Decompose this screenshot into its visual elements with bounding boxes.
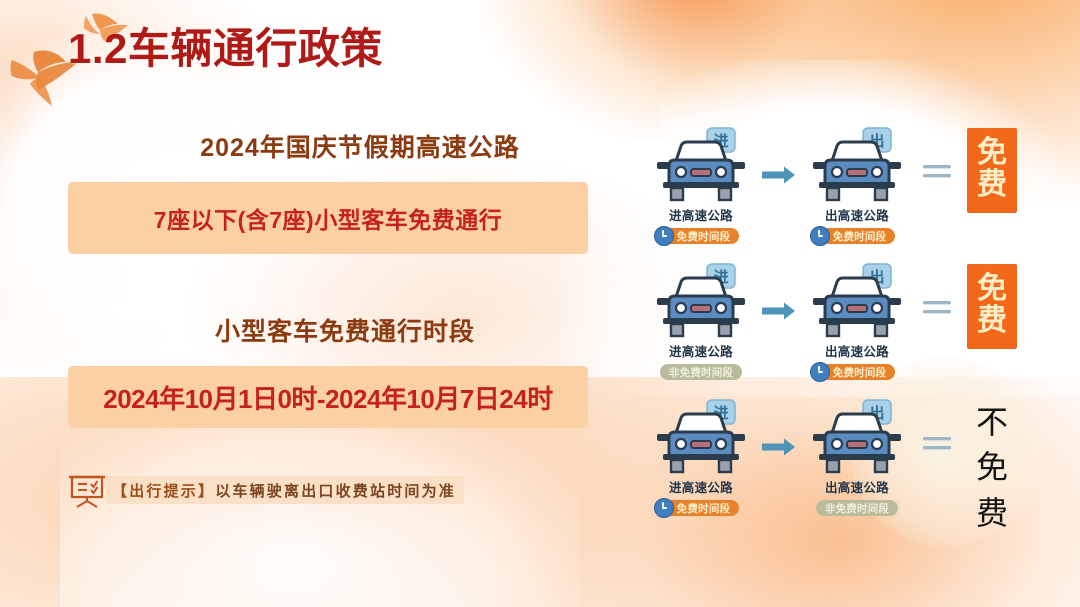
exit-badge: 免费时间段 <box>819 228 896 244</box>
exit-label: 出高速公路 <box>798 205 916 224</box>
result-char-1: 不 <box>963 400 1021 445</box>
travel-tip-text: 【出行提示】以车辆驶离出口收费站时间为准 <box>106 476 464 504</box>
result-free-badge: 免 费 <box>967 128 1017 213</box>
result-not-free-text: 不 免 费 <box>963 400 1021 536</box>
exit-stage: 出 出高速公路 免费时间段 <box>798 262 916 381</box>
section1-heading: 2024年国庆节假期高速公路 <box>132 128 588 164</box>
entry-label: 进高速公路 <box>642 341 760 360</box>
exit-badge: 非免费时间段 <box>816 500 898 516</box>
clock-icon <box>810 226 830 246</box>
tip-bracket-label: 【出行提示】 <box>112 480 215 501</box>
car-entry-icon: 进 <box>642 262 760 340</box>
tip-body-label: 以车辆驶离出口收费站时间为准 <box>215 480 456 501</box>
result-free-badge: 免 费 <box>967 264 1017 349</box>
entry-badge-label: 非免费时间段 <box>669 365 733 380</box>
exit-stage: 出 出高速公路 非免费时间段 <box>798 398 916 517</box>
car-entry-icon: 进 <box>642 398 760 476</box>
result-char-2: 费 <box>967 305 1017 337</box>
exit-label: 出高速公路 <box>798 477 916 496</box>
entry-badge-label: 免费时间段 <box>677 501 731 516</box>
right-arrow-icon <box>762 302 796 320</box>
clock-icon <box>810 362 830 382</box>
entry-stage: 进 进高速公路 免费时间段 <box>642 126 760 245</box>
travel-tip-row: 【出行提示】以车辆驶离出口收费站时间为准 <box>68 474 588 506</box>
car-exit-icon: 出 <box>798 262 916 340</box>
result-char-2: 免 <box>963 445 1021 490</box>
right-arrow-icon <box>762 438 796 456</box>
section1-panel: 7座以下(含7座)小型客车免费通行 <box>68 182 588 254</box>
result-char-1: 免 <box>967 137 1017 169</box>
result-cell: 免 费 <box>960 128 1024 213</box>
exit-label: 出高速公路 <box>798 341 916 360</box>
entry-label: 进高速公路 <box>642 205 760 224</box>
car-entry-icon: 进 <box>642 126 760 204</box>
page-title: 1.2车辆通行政策 <box>68 26 383 72</box>
equals-sign-icon <box>922 298 952 318</box>
clock-icon <box>654 226 674 246</box>
exit-badge-label: 非免费时间段 <box>825 501 889 516</box>
entry-stage: 进 进高速公路 非免费时间段 <box>642 262 760 381</box>
entry-badge: 免费时间段 <box>663 228 740 244</box>
car-exit-icon: 出 <box>798 126 916 204</box>
section2-panel: 2024年10月1日0时-2024年10月7日24时 <box>68 366 588 428</box>
result-char-2: 费 <box>967 169 1017 201</box>
result-char-3: 费 <box>963 491 1021 536</box>
left-content-column: 2024年国庆节假期高速公路 7座以下(含7座)小型客车免费通行 小型客车免费通… <box>68 128 588 506</box>
result-char-1: 免 <box>967 273 1017 305</box>
entry-badge: 免费时间段 <box>663 500 740 516</box>
entry-stage: 进 进高速公路 免费时间段 <box>642 398 760 517</box>
exit-stage: 出 出高速公路 免费时间段 <box>798 126 916 245</box>
presentation-board-icon <box>68 474 106 508</box>
exit-badge: 免费时间段 <box>819 364 896 380</box>
exit-badge-label: 免费时间段 <box>833 229 887 244</box>
exit-badge-label: 免费时间段 <box>833 365 887 380</box>
car-exit-icon: 出 <box>798 398 916 476</box>
toll-rules-diagram: 进 进高速公路 免费时间段 <box>630 126 1050 534</box>
right-arrow-icon <box>762 166 796 184</box>
section2-heading: 小型客车免费通行时段 <box>102 312 588 348</box>
equals-sign-icon <box>922 162 952 182</box>
diagram-row: 进 进高速公路 非免费时间段 <box>630 262 1050 398</box>
result-cell: 不 免 费 <box>960 400 1024 536</box>
diagram-row: 进 进高速公路 免费时间段 <box>630 126 1050 262</box>
entry-label: 进高速公路 <box>642 477 760 496</box>
entry-badge: 非免费时间段 <box>660 364 742 380</box>
equals-sign-icon <box>922 434 952 454</box>
entry-badge-label: 免费时间段 <box>677 229 731 244</box>
clock-icon <box>654 498 674 518</box>
diagram-row: 进 进高速公路 免费时间段 <box>630 398 1050 534</box>
result-cell: 免 费 <box>960 264 1024 349</box>
